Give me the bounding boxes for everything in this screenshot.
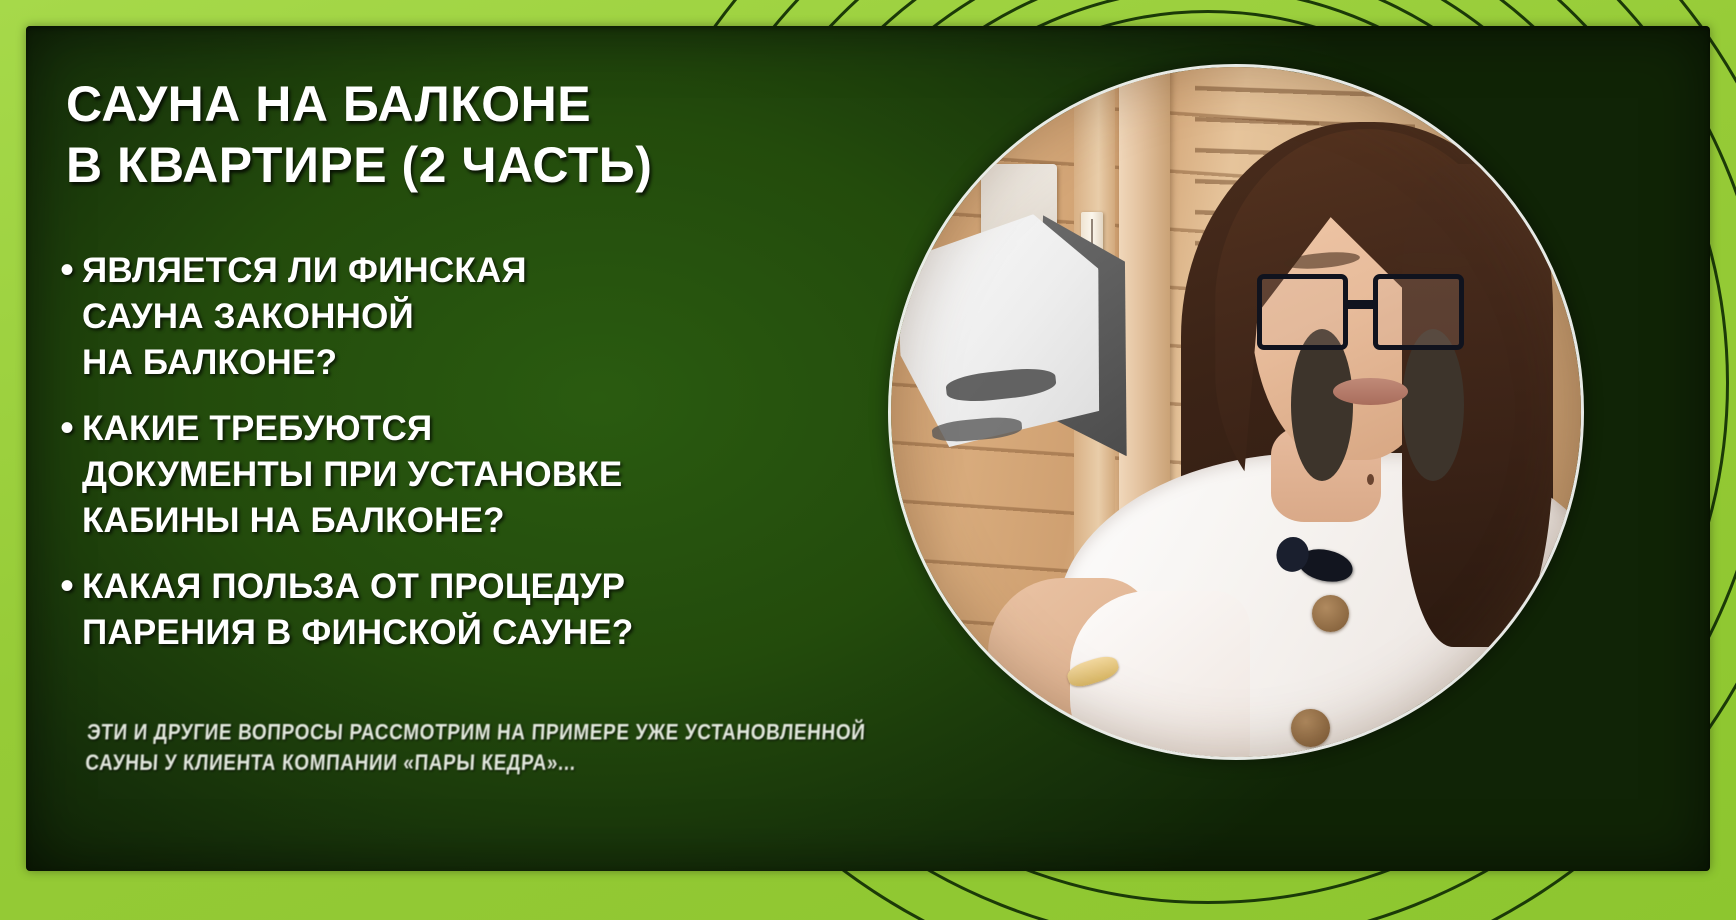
blouse-button-upper	[1312, 595, 1349, 632]
list-item: • КАКИЕ ТРЕБУЮТСЯ ДОКУМЕНТЫ ПРИ УСТАНОВК…	[60, 406, 790, 544]
list-item: • ЯВЛЯЕТСЯ ЛИ ФИНСКАЯ САУНА ЗАКОННОЙ НА …	[60, 248, 790, 386]
bullet-dot-icon: •	[60, 248, 82, 292]
mole	[1367, 474, 1374, 485]
eye-left	[1291, 329, 1353, 481]
glasses-bridge	[1348, 300, 1373, 309]
blouse-button-lower	[1291, 709, 1330, 748]
eyeglasses-icon	[1257, 274, 1464, 350]
bullet-dot-icon: •	[60, 406, 82, 450]
bullet-text: КАКАЯ ПОЛЬЗА ОТ ПРОЦЕДУР ПАРЕНИЯ В ФИНСК…	[82, 564, 790, 656]
footnote-text: ЭТИ И ДРУГИЕ ВОПРОСЫ РАССМОТРИМ НА ПРИМЕ…	[84, 718, 908, 779]
page-title: САУНА НА БАЛКОНЕ В КВАРТИРЕ (2 ЧАСТЬ)	[66, 74, 766, 196]
lens-right	[1373, 274, 1464, 350]
bullet-text: ЯВЛЯЕТСЯ ЛИ ФИНСКАЯ САУНА ЗАКОННОЙ НА БА…	[82, 248, 790, 386]
eye-right	[1402, 329, 1464, 481]
thumbnail-canvas: САУНА НА БАЛКОНЕ В КВАРТИРЕ (2 ЧАСТЬ) • …	[0, 0, 1736, 920]
bullet-list: • ЯВЛЯЕТСЯ ЛИ ФИНСКАЯ САУНА ЗАКОННОЙ НА …	[60, 248, 790, 676]
bullet-text: КАКИЕ ТРЕБУЮТСЯ ДОКУМЕНТЫ ПРИ УСТАНОВКЕ …	[82, 406, 790, 544]
circular-photo	[888, 64, 1584, 760]
list-item: • КАКАЯ ПОЛЬЗА ОТ ПРОЦЕДУР ПАРЕНИЯ В ФИН…	[60, 564, 790, 656]
lens-left	[1257, 274, 1348, 350]
person-figure	[891, 67, 1581, 757]
content-panel: САУНА НА БАЛКОНЕ В КВАРТИРЕ (2 ЧАСТЬ) • …	[26, 26, 1710, 871]
lips	[1333, 378, 1409, 406]
bullet-dot-icon: •	[60, 564, 82, 608]
